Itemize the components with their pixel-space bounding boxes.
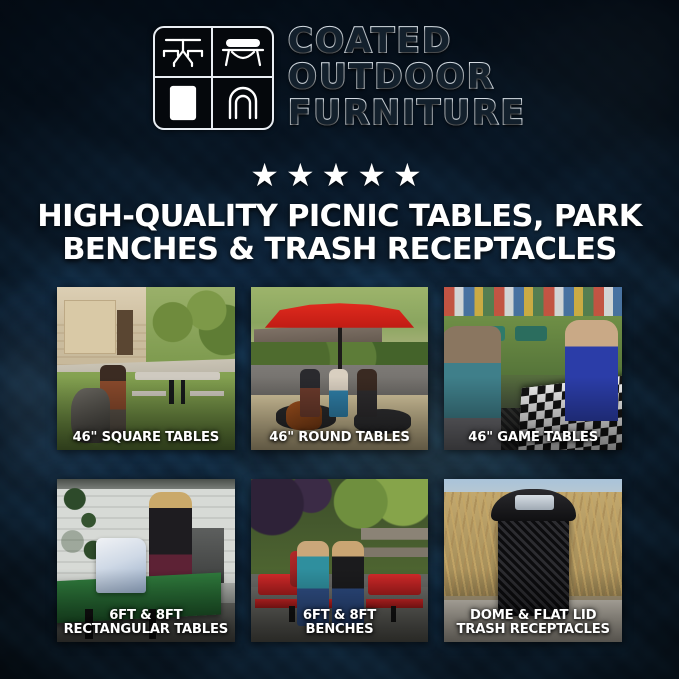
trash-receptacle-icon xyxy=(155,78,214,128)
star-rating-glyphs: ★★★★★ xyxy=(250,159,428,191)
product-tile-rectangular-tables[interactable]: 6FT & 8FT RECTANGULAR TABLES xyxy=(57,479,235,642)
caption-line-1: 6FT & 8FT xyxy=(253,609,427,623)
product-caption: DOME & FLAT LID TRASH RECEPTACLES xyxy=(446,609,620,637)
caption-line-1: 46" ROUND TABLES xyxy=(253,431,427,445)
square-tables-photo xyxy=(57,287,235,450)
wordmark-line-2: OUTDOOR xyxy=(288,62,495,94)
wordmark-line-3: FURNITURE xyxy=(288,98,526,130)
caption-line-2: RECTANGULAR TABLES xyxy=(59,623,233,637)
product-tile-round-tables[interactable]: 46" ROUND TABLES xyxy=(251,287,429,450)
product-tile-benches[interactable]: 6FT & 8FT BENCHES xyxy=(251,479,429,642)
star-rating: ★★★★★ xyxy=(0,159,679,191)
brand-logo: COATED OUTDOOR FURNITURE xyxy=(0,26,679,130)
caption-line-1: 46" GAME TABLES xyxy=(446,431,620,445)
product-tile-square-tables[interactable]: 46" SQUARE TABLES xyxy=(57,287,235,450)
park-bench-icon xyxy=(213,28,272,78)
promo-banner: COATED OUTDOOR FURNITURE ★★★★★ HIGH-QUAL… xyxy=(0,0,679,679)
product-tile-trash-receptacles[interactable]: DOME & FLAT LID TRASH RECEPTACLES xyxy=(444,479,622,642)
round-tables-photo xyxy=(251,287,429,450)
product-grid: 46" SQUARE TABLES 46" ROUND TABLES xyxy=(57,287,622,642)
product-caption: 46" GAME TABLES xyxy=(446,431,620,445)
logo-icon-grid xyxy=(153,26,274,130)
picnic-table-icon xyxy=(155,28,214,78)
product-caption: 6FT & 8FT BENCHES xyxy=(253,609,427,637)
caption-line-2: BENCHES xyxy=(253,623,427,637)
page-title: HIGH-QUALITY PICNIC TABLES, PARK BENCHES… xyxy=(28,201,651,267)
wordmark-line-1: COATED xyxy=(288,26,452,58)
game-tables-photo xyxy=(444,287,622,450)
caption-line-2: TRASH RECEPTACLES xyxy=(446,623,620,637)
caption-line-1: 6FT & 8FT xyxy=(59,609,233,623)
product-caption: 46" ROUND TABLES xyxy=(253,431,427,445)
brand-wordmark: COATED OUTDOOR FURNITURE xyxy=(288,26,526,130)
caption-line-1: DOME & FLAT LID xyxy=(446,609,620,623)
bike-rack-icon xyxy=(213,78,272,128)
headline-line-2: BENCHES & TRASH RECEPTACLES xyxy=(28,234,651,267)
product-caption: 46" SQUARE TABLES xyxy=(59,431,233,445)
headline-line-1: HIGH-QUALITY PICNIC TABLES, PARK xyxy=(28,201,651,234)
banner-content: COATED OUTDOOR FURNITURE ★★★★★ HIGH-QUAL… xyxy=(0,0,679,679)
product-tile-game-tables[interactable]: 46" GAME TABLES xyxy=(444,287,622,450)
caption-line-1: 46" SQUARE TABLES xyxy=(59,431,233,445)
product-caption: 6FT & 8FT RECTANGULAR TABLES xyxy=(59,609,233,637)
